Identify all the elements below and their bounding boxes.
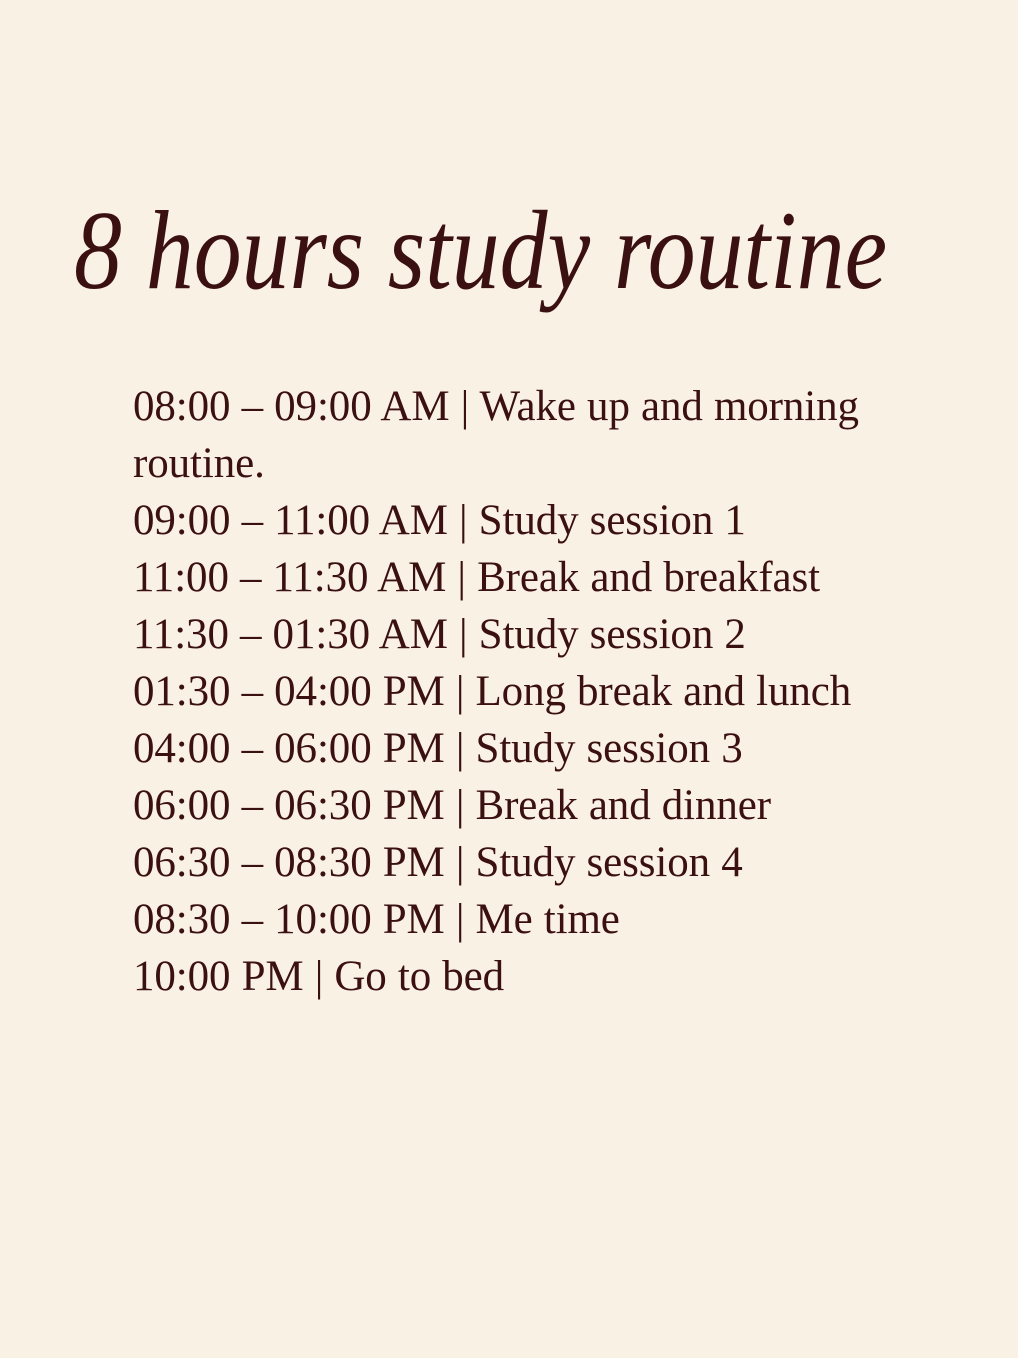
- schedule-item-long-break-lunch: 01:30 – 04:00 PM | Long break and lunch: [133, 663, 879, 720]
- schedule-item-break-dinner: 06:00 – 06:30 PM | Break and dinner: [133, 777, 879, 834]
- schedule-item-wake-up: 08:00 – 09:00 AM | Wake up and morning r…: [133, 378, 879, 492]
- study-routine-poster: 8 hours study routine 08:00 – 09:00 AM |…: [0, 0, 1018, 1358]
- schedule-item-study-session-2: 11:30 – 01:30 AM | Study session 2: [133, 606, 879, 663]
- schedule-item-study-session-4: 06:30 – 08:30 PM | Study session 4: [133, 834, 879, 891]
- schedule-item-me-time: 08:30 – 10:00 PM | Me time: [133, 891, 879, 948]
- schedule-list: 08:00 – 09:00 AM | Wake up and morning r…: [133, 378, 879, 1005]
- page-title: 8 hours study routine: [74, 195, 826, 307]
- schedule-item-break-breakfast: 11:00 – 11:30 AM | Break and breakfast: [133, 549, 879, 606]
- schedule-item-study-session-1: 09:00 – 11:00 AM | Study session 1: [133, 492, 879, 549]
- schedule-item-study-session-3: 04:00 – 06:00 PM | Study session 3: [133, 720, 879, 777]
- schedule-item-go-to-bed: 10:00 PM | Go to bed: [133, 948, 879, 1005]
